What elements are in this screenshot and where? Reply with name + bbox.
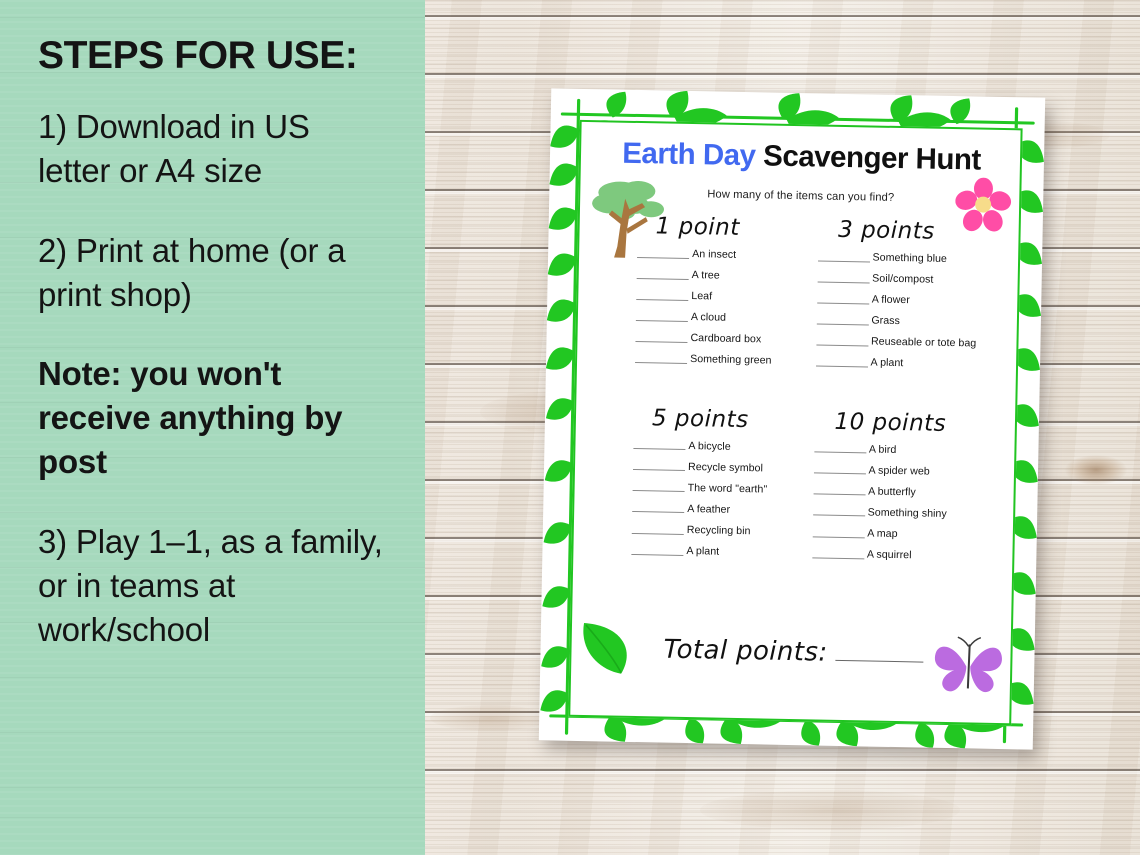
printable-sheet: Earth Day Scavenger Hunt How many of the… xyxy=(539,88,1045,749)
section-heading: 5 points xyxy=(634,405,797,434)
list-item[interactable]: Something green xyxy=(635,353,798,367)
write-in-blank[interactable] xyxy=(635,341,687,343)
screenshot-root: STEPS FOR USE: 1) Download in US letter … xyxy=(0,0,1140,855)
butterfly-icon xyxy=(932,636,1005,697)
write-in-blank[interactable] xyxy=(636,299,688,301)
write-in-blank[interactable] xyxy=(633,469,685,471)
sections-row-2: 5 points A bicycle Recycle symbol The wo… xyxy=(587,404,1003,573)
section-10-points: 10 points A bird A spider web A butterfl… xyxy=(794,408,1004,573)
write-in-blank[interactable] xyxy=(816,344,868,346)
step-note: Note: you won't receive anything by post xyxy=(38,352,390,484)
list-item[interactable]: A bird xyxy=(814,443,1003,457)
list-item[interactable]: A butterfly xyxy=(813,485,1002,499)
write-in-blank[interactable] xyxy=(637,278,689,280)
write-in-blank[interactable] xyxy=(813,515,865,517)
list-item[interactable]: Leaf xyxy=(636,290,799,304)
list-item[interactable]: A spider web xyxy=(813,464,1002,478)
list-item[interactable]: A map xyxy=(812,527,1001,541)
write-in-blank[interactable] xyxy=(636,320,688,322)
list-item[interactable]: A bicycle xyxy=(633,439,796,453)
tree-icon xyxy=(589,176,669,259)
list-item[interactable]: A flower xyxy=(817,294,1006,308)
wood-knot xyxy=(1065,455,1127,485)
checklist: A bird A spider web A butterfly Somethin… xyxy=(812,443,1003,563)
list-item[interactable]: A squirrel xyxy=(812,548,1001,562)
write-in-blank[interactable] xyxy=(633,448,685,450)
step-item-1: 1) Download in US letter or A4 size xyxy=(38,105,390,193)
title-earth-day: Earth Day xyxy=(622,137,756,173)
write-in-blank[interactable] xyxy=(816,365,868,367)
list-item[interactable]: Reuseable or tote bag xyxy=(816,336,1005,350)
page-title: STEPS FOR USE: xyxy=(38,36,399,77)
wood-grain xyxy=(430,705,550,731)
total-points-label: Total points: xyxy=(663,635,828,668)
write-in-blank[interactable] xyxy=(817,302,869,304)
write-in-blank[interactable] xyxy=(632,511,684,513)
list-item[interactable]: Something shiny xyxy=(813,506,1002,520)
write-in-blank[interactable] xyxy=(818,260,870,262)
write-in-blank[interactable] xyxy=(633,490,685,492)
write-in-blank[interactable] xyxy=(817,281,869,283)
write-in-blank[interactable] xyxy=(814,452,866,454)
section-heading: 10 points xyxy=(814,408,1003,438)
write-in-blank[interactable] xyxy=(812,557,864,559)
printable-inner-frame: Earth Day Scavenger Hunt How many of the… xyxy=(568,120,1022,725)
list-item[interactable]: A feather xyxy=(632,503,795,517)
list-item[interactable]: A plant xyxy=(631,545,794,559)
printable-title: Earth Day Scavenger Hunt xyxy=(595,138,1009,177)
list-item[interactable]: Grass xyxy=(816,315,1005,329)
step-item-3: 3) Play 1–1, as a family, or in teams at… xyxy=(38,520,390,652)
section-3-points: 3 points Something blue Soil/compost A f… xyxy=(797,216,1007,381)
list-item[interactable]: The word "earth" xyxy=(633,482,796,496)
list-item[interactable]: Recycling bin xyxy=(632,524,795,538)
flower-icon xyxy=(955,177,1012,234)
checklist: An insect A tree Leaf A cloud Cardboard … xyxy=(635,248,800,367)
leaf-icon xyxy=(577,619,640,682)
write-in-blank[interactable] xyxy=(812,536,864,538)
section-5-points: 5 points A bicycle Recycle symbol The wo… xyxy=(587,404,797,569)
title-scavenger-hunt: Scavenger Hunt xyxy=(755,139,981,176)
wood-grain xyxy=(700,790,960,830)
list-item[interactable]: Cardboard box xyxy=(635,332,798,346)
checklist: Something blue Soil/compost A flower Gra… xyxy=(815,251,1006,371)
write-in-blank[interactable] xyxy=(816,323,868,325)
list-item[interactable]: A cloud xyxy=(636,311,799,325)
list-item[interactable]: A plant xyxy=(815,357,1004,371)
write-in-blank[interactable] xyxy=(631,554,683,556)
list-item[interactable]: Soil/compost xyxy=(817,273,1006,287)
write-in-blank[interactable] xyxy=(813,494,865,496)
write-in-blank[interactable] xyxy=(632,532,684,534)
total-points-blank[interactable] xyxy=(835,660,923,663)
instructions-panel: STEPS FOR USE: 1) Download in US letter … xyxy=(0,0,425,855)
list-item[interactable]: A tree xyxy=(637,269,800,283)
write-in-blank[interactable] xyxy=(635,362,687,364)
list-item[interactable]: Recycle symbol xyxy=(633,461,796,475)
write-in-blank[interactable] xyxy=(813,473,865,475)
checklist: A bicycle Recycle symbol The word "earth… xyxy=(631,439,796,558)
step-item-2: 2) Print at home (or a print shop) xyxy=(38,229,390,317)
total-points-row: Total points: xyxy=(663,635,924,670)
list-item[interactable]: Something blue xyxy=(818,251,1007,265)
